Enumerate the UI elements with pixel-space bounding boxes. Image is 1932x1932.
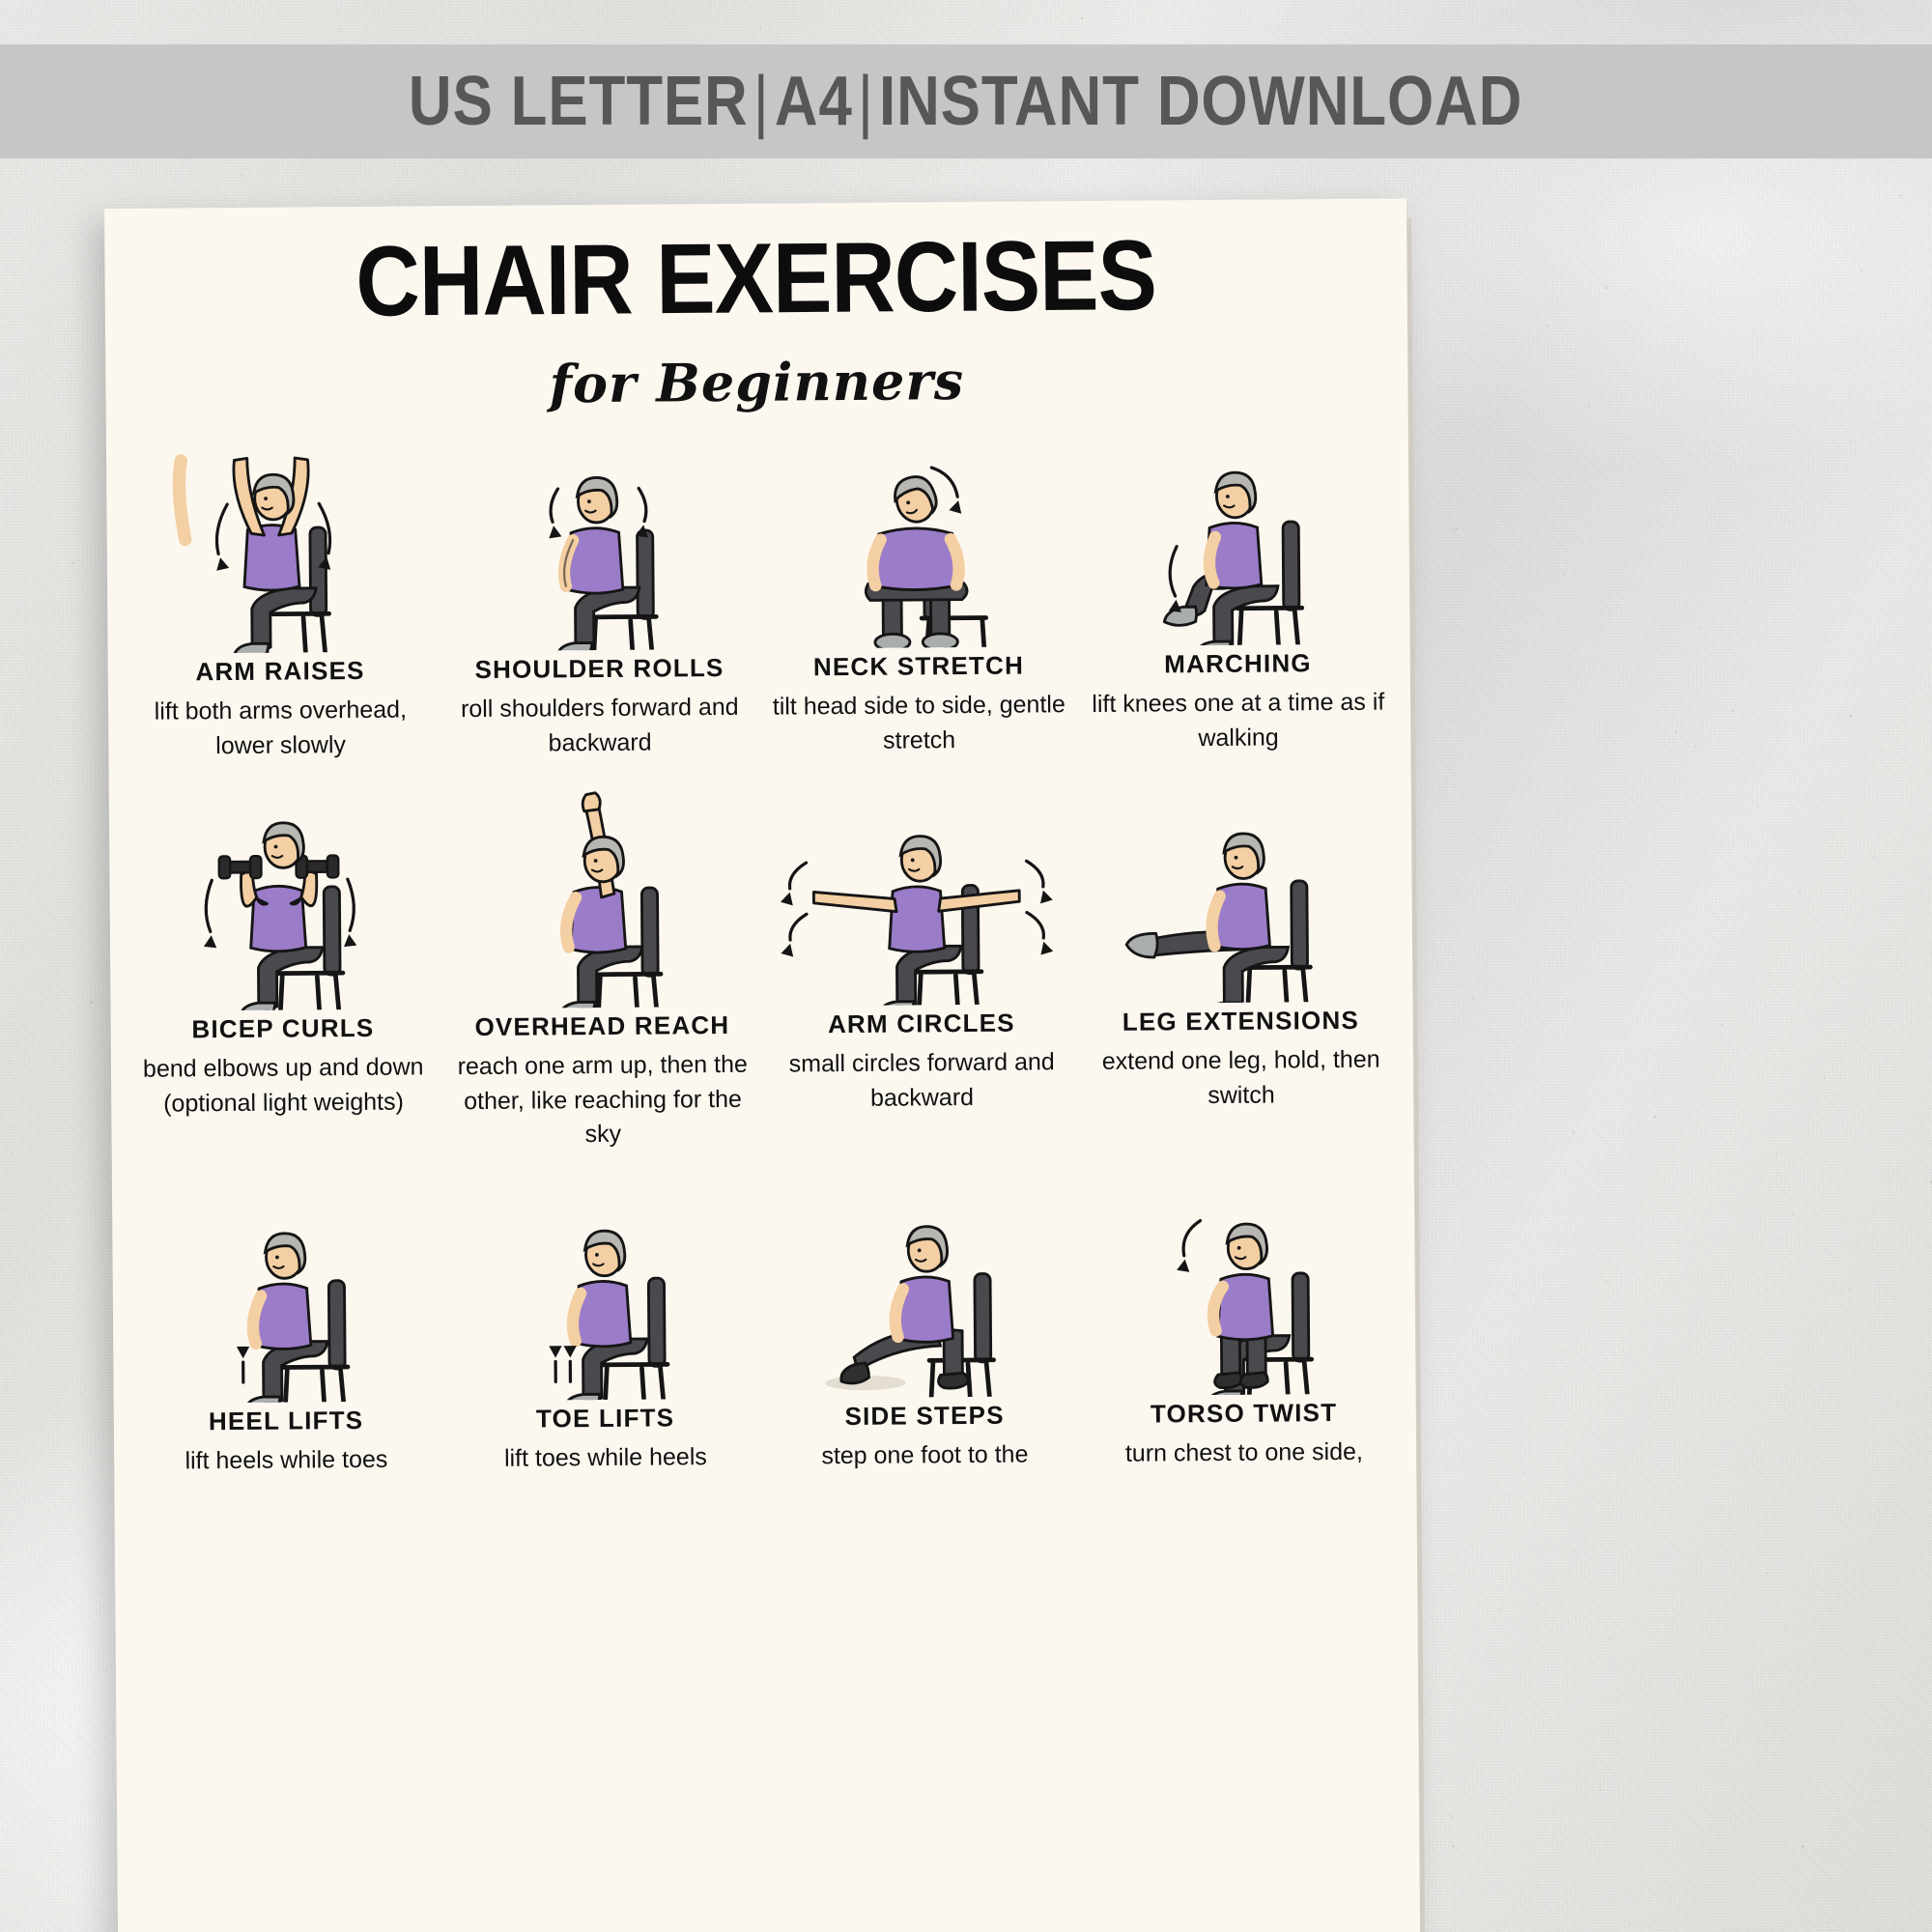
arrow-head xyxy=(1037,940,1053,955)
exercise-grid: ARM RAISESlift both arms overhead, lower… xyxy=(106,423,1417,1506)
background-speck xyxy=(1461,300,1463,303)
background-speck xyxy=(1629,1923,1631,1925)
background-speck xyxy=(1815,309,1816,310)
background-speck xyxy=(1828,1921,1830,1923)
poster-title: CHAIR EXERCISES xyxy=(104,217,1407,341)
background-speck xyxy=(1538,412,1539,412)
exercise-figure-arms-up xyxy=(120,431,439,654)
background-speck xyxy=(11,1152,13,1154)
head xyxy=(891,472,941,526)
background-speck xyxy=(1540,664,1541,665)
background-speck xyxy=(48,1156,49,1157)
background-speck xyxy=(1693,1900,1694,1901)
background-speck xyxy=(1081,17,1083,19)
background-speck xyxy=(1701,720,1703,722)
exercise-name: HEEL LIFTS xyxy=(209,1405,364,1435)
background-speck xyxy=(1792,1213,1794,1215)
background-speck xyxy=(1427,1760,1430,1763)
background-speck xyxy=(241,174,243,176)
exercise-name: SIDE STEPS xyxy=(844,1400,1004,1431)
exercise-figure-curls-with-dumbbells xyxy=(123,788,441,1011)
exercise-description: roll shoulders forward and backward xyxy=(450,691,751,761)
background-speck xyxy=(1745,601,1747,603)
background-speck xyxy=(1869,1649,1871,1651)
background-speck xyxy=(1758,1417,1759,1418)
background-speck xyxy=(1442,13,1444,14)
background-speck xyxy=(1604,210,1605,211)
arrow-head xyxy=(214,556,230,571)
background-speck xyxy=(1105,1,1107,3)
head xyxy=(1224,834,1264,879)
background-speck xyxy=(1473,1,1475,3)
arrow-head xyxy=(547,525,561,538)
background-speck xyxy=(1839,970,1840,971)
background-speck xyxy=(1431,1689,1433,1690)
arrow-head xyxy=(237,1346,249,1357)
background-speck xyxy=(1861,1494,1861,1495)
background-speck xyxy=(1732,710,1734,712)
background-speck xyxy=(1849,1288,1851,1290)
background-speck xyxy=(1513,1293,1514,1294)
exercise-name: LEG EXTENSIONS xyxy=(1122,1006,1359,1037)
motion-arrow xyxy=(348,879,355,930)
background-speck xyxy=(1593,854,1595,856)
background-speck xyxy=(1851,422,1852,423)
exercise-card: ARM RAISESlift both arms overhead, lower… xyxy=(120,431,440,791)
background-speck xyxy=(1145,3,1146,4)
background-speck xyxy=(1694,746,1696,748)
background-speck xyxy=(1868,292,1869,293)
poster-subtitle: for Beginners xyxy=(105,346,1407,418)
background-speck xyxy=(185,176,186,178)
exercise-illustration xyxy=(1092,424,1383,646)
background-speck xyxy=(57,1294,58,1295)
background-speck xyxy=(1576,582,1577,583)
background-speck xyxy=(1675,730,1676,731)
banner-format-us-letter: US LETTER xyxy=(409,63,749,140)
background-speck xyxy=(1533,982,1534,983)
background-speck xyxy=(1202,166,1204,168)
background-speck xyxy=(1591,658,1594,661)
exercise-card: TOE LIFTSlift toes while heels xyxy=(444,1178,764,1503)
exercise-name: TOE LIFTS xyxy=(536,1403,674,1434)
background-speck xyxy=(1468,439,1470,440)
background-speck xyxy=(1240,188,1242,190)
background-speck xyxy=(1884,312,1886,314)
motion-arrow xyxy=(1027,912,1043,938)
background-speck xyxy=(1700,1326,1702,1328)
arrow-head xyxy=(204,935,217,949)
background-speck xyxy=(1925,1492,1926,1493)
background-speck xyxy=(1674,607,1675,608)
background-speck xyxy=(1807,1587,1810,1590)
background-speck xyxy=(1500,1608,1501,1609)
background-speck xyxy=(1532,1709,1534,1711)
background-speck xyxy=(1849,715,1851,717)
arrow-head xyxy=(563,1346,576,1357)
head xyxy=(1215,472,1256,518)
background-speck xyxy=(71,562,73,564)
head xyxy=(907,1226,948,1271)
background-speck xyxy=(1862,1578,1864,1580)
background-speck xyxy=(1668,1003,1669,1004)
head xyxy=(584,1231,625,1276)
head xyxy=(254,474,295,520)
arrow-head xyxy=(950,498,965,513)
background-speck xyxy=(1511,1362,1512,1363)
background-speck xyxy=(1701,1276,1703,1278)
background-speck xyxy=(1655,1758,1657,1760)
exercise-card: HEEL LIFTSlift heels while toes xyxy=(126,1180,445,1506)
background-speck xyxy=(115,15,116,16)
motion-arrow xyxy=(639,488,646,521)
listing-banner: US LETTER|A4|INSTANT DOWNLOAD xyxy=(0,44,1932,158)
background-speck xyxy=(1638,540,1639,541)
background-speck xyxy=(352,6,355,9)
exercise-figure-shoulder-roll xyxy=(439,429,757,652)
exercise-figure-one-arm-up xyxy=(441,786,760,1009)
background-speck xyxy=(1588,404,1591,407)
background-speck xyxy=(1725,1715,1727,1717)
head xyxy=(577,477,617,523)
arrow-head xyxy=(781,891,796,905)
background-speck xyxy=(1654,1116,1656,1118)
background-speck xyxy=(1835,760,1836,761)
background-speck xyxy=(1435,841,1437,843)
background-speck xyxy=(1872,857,1874,859)
exercise-name: ARM RAISES xyxy=(195,656,364,687)
exercise-card: BICEP CURLSbend elbows up and down (opti… xyxy=(123,788,443,1182)
background-speck xyxy=(1802,1845,1804,1848)
exercise-name: NECK STRETCH xyxy=(813,651,1024,683)
banner-text: US LETTER|A4|INSTANT DOWNLOAD xyxy=(409,62,1522,141)
exercise-figure-leg-extended xyxy=(1080,781,1399,1005)
exercise-description: extend one leg, hold, then switch xyxy=(1092,1043,1392,1114)
background-speck xyxy=(1878,1371,1879,1372)
background-speck xyxy=(810,10,812,13)
exercise-card: ARM CIRCLESsmall circles forward and bac… xyxy=(761,783,1082,1178)
exercise-illustration xyxy=(139,1180,431,1403)
exercise-illustration xyxy=(455,786,747,1009)
head xyxy=(1227,1223,1267,1268)
background-speck xyxy=(64,1824,66,1826)
motion-arrow xyxy=(206,880,213,931)
head xyxy=(900,836,941,881)
background-speck xyxy=(1483,1341,1485,1343)
background-speck xyxy=(1781,251,1782,252)
background-speck xyxy=(1800,734,1802,736)
background-speck xyxy=(1771,1863,1772,1864)
background-speck xyxy=(1623,29,1624,30)
exercise-illustration xyxy=(775,783,1066,1006)
background-speck xyxy=(1777,916,1778,917)
exercise-description: reach one arm up, then the other, like r… xyxy=(453,1048,753,1153)
exercise-figure-knee-lift xyxy=(1077,424,1396,647)
exercise-figure-torso-twist xyxy=(1083,1173,1402,1396)
background-speck xyxy=(1606,1280,1607,1281)
background-speck xyxy=(1723,1614,1724,1615)
torso xyxy=(889,887,945,952)
head xyxy=(583,837,624,882)
background-speck xyxy=(1561,650,1563,652)
background-speck xyxy=(1430,715,1433,718)
exercise-description: tilt head side to side, gentle stretch xyxy=(769,688,1069,758)
background-speck xyxy=(982,6,983,7)
background-speck xyxy=(1924,1217,1925,1218)
background-speck xyxy=(1605,286,1607,289)
background-speck xyxy=(1573,1131,1575,1133)
background-speck xyxy=(1798,892,1801,895)
background-speck xyxy=(1455,527,1458,530)
background-speck xyxy=(1575,1616,1577,1618)
background-speck xyxy=(1886,1638,1888,1640)
exercise-illustration xyxy=(778,1176,1069,1398)
motion-arrow xyxy=(551,489,558,522)
exercise-card: NECK STRETCHtilt head side to side, gent… xyxy=(758,426,1078,786)
background-speck xyxy=(1423,655,1424,656)
head xyxy=(266,1233,306,1278)
background-speck xyxy=(28,1712,30,1714)
background-speck xyxy=(1757,1694,1759,1696)
background-speck xyxy=(1522,1631,1523,1632)
background-speck xyxy=(1651,1416,1652,1417)
background-speck xyxy=(1609,1638,1611,1640)
exercise-figure-arms-out-sideways xyxy=(761,783,1080,1007)
background-speck xyxy=(1804,441,1805,442)
background-speck xyxy=(1641,650,1642,651)
head xyxy=(264,823,304,868)
legs-twist xyxy=(1214,1333,1267,1387)
background-speck xyxy=(1500,255,1502,257)
background-speck xyxy=(1921,1826,1923,1828)
background-speck xyxy=(1522,1472,1524,1474)
background-speck xyxy=(78,1736,80,1738)
exercise-description: lift toes while heels xyxy=(504,1440,707,1476)
background-speck xyxy=(1800,1552,1801,1553)
exercise-name: SHOULDER ROLLS xyxy=(474,653,724,685)
background-speck xyxy=(1547,325,1548,327)
background-speck xyxy=(667,184,668,185)
exercise-description: lift heels while toes xyxy=(185,1442,387,1478)
arrow-head xyxy=(1037,889,1053,904)
background-speck xyxy=(1563,574,1565,576)
background-speck xyxy=(69,1726,71,1728)
exercise-card: MARCHINGlift knees one at a time as if w… xyxy=(1077,424,1397,784)
background-speck xyxy=(759,26,761,28)
background-speck xyxy=(228,171,229,172)
chair-exercises-poster: CHAIR EXERCISES for Beginners xyxy=(104,198,1421,1932)
background-speck xyxy=(1523,409,1524,410)
arrow-head xyxy=(549,1346,561,1357)
background-speck xyxy=(83,1709,84,1710)
arrow-head xyxy=(343,933,357,947)
background-speck xyxy=(1651,1925,1653,1927)
exercise-illustration xyxy=(1097,1173,1389,1395)
motion-arrow xyxy=(790,914,807,940)
background-speck xyxy=(1766,1573,1768,1575)
exercise-name: MARCHING xyxy=(1164,648,1312,679)
exercise-illustration xyxy=(136,788,428,1010)
background-speck xyxy=(1850,440,1852,442)
background-speck xyxy=(1899,195,1902,198)
background-speck xyxy=(1567,765,1569,767)
background-speck xyxy=(1695,1689,1697,1690)
background-speck xyxy=(440,160,440,161)
background-speck xyxy=(1127,177,1128,178)
background-speck xyxy=(339,30,341,32)
background-speck xyxy=(1872,302,1873,303)
exercise-card: OVERHEAD REACHreach one arm up, then the… xyxy=(441,786,762,1180)
background-speck xyxy=(1861,270,1863,272)
exercise-figure-seated-neutral xyxy=(126,1180,444,1404)
exercise-name: TORSO TWIST xyxy=(1151,1398,1338,1430)
exercise-name: ARM CIRCLES xyxy=(828,1009,1015,1040)
exercise-description: lift both arms overhead, lower slowly xyxy=(130,693,431,763)
motion-arrow xyxy=(1027,861,1043,887)
background-speck xyxy=(1776,1153,1777,1155)
banner-separator-1: | xyxy=(749,63,775,140)
exercise-card: SHOULDER ROLLSroll shoulders forward and… xyxy=(439,429,758,789)
motion-arrow xyxy=(1183,1220,1201,1255)
exercise-description: small circles forward and backward xyxy=(772,1045,1072,1116)
background-speck xyxy=(1739,1915,1741,1917)
motion-arrow xyxy=(790,863,807,889)
exercise-description: lift knees one at a time as if walking xyxy=(1089,686,1389,756)
exercise-figure-seated-neutral-toes xyxy=(444,1178,763,1401)
background-speck xyxy=(1536,1602,1538,1604)
banner-format-a4: A4 xyxy=(775,63,853,140)
background-speck xyxy=(55,716,58,719)
background-speck xyxy=(1820,1238,1823,1241)
exercise-card: LEG EXTENSIONSextend one leg, hold, then… xyxy=(1080,781,1401,1176)
background-speck xyxy=(1472,997,1474,999)
background-speck xyxy=(1721,1024,1722,1025)
background-speck xyxy=(1493,1813,1495,1815)
background-speck xyxy=(531,175,532,176)
background-speck xyxy=(1595,861,1596,862)
background-speck xyxy=(1496,1079,1497,1080)
background-speck xyxy=(1450,1815,1452,1817)
exercise-card: SIDE STEPSstep one foot to the xyxy=(764,1176,1084,1501)
background-speck xyxy=(1739,1618,1740,1619)
exercise-description: bend elbows up and down (optional light … xyxy=(133,1050,434,1121)
background-speck xyxy=(1452,1845,1454,1847)
torso xyxy=(250,886,306,952)
exercise-card: TORSO TWISTturn chest to one side, xyxy=(1083,1173,1403,1498)
background-speck xyxy=(111,1732,113,1734)
motion-arrow xyxy=(216,504,227,554)
background-speck xyxy=(4,1789,6,1791)
exercise-illustration xyxy=(772,426,1064,648)
background-speck xyxy=(90,1001,93,1004)
arrow-head xyxy=(1177,1258,1191,1271)
background-speck xyxy=(1669,1297,1670,1298)
exercise-illustration xyxy=(459,1178,751,1400)
banner-separator-2: | xyxy=(853,63,879,140)
background-speck xyxy=(1502,648,1503,649)
exercise-illustration xyxy=(453,429,745,651)
background-speck xyxy=(1824,1076,1826,1078)
exercise-figure-foot-to-side xyxy=(764,1176,1083,1399)
exercise-name: OVERHEAD REACH xyxy=(474,1010,729,1042)
exercise-name: BICEP CURLS xyxy=(191,1013,374,1044)
motion-arrow xyxy=(1170,547,1178,596)
background-speck xyxy=(1600,1789,1602,1791)
exercise-description: turn chest to one side, xyxy=(1125,1435,1363,1470)
arrow-head xyxy=(781,942,797,956)
exercise-figure-head-tilt xyxy=(758,426,1077,649)
arrow-head xyxy=(1169,599,1182,612)
background-speck xyxy=(1699,626,1701,628)
exercise-illustration xyxy=(1094,781,1385,1004)
exercise-illustration xyxy=(133,431,425,653)
background-speck xyxy=(533,24,534,25)
background-speck xyxy=(1911,545,1914,548)
background-speck xyxy=(1574,1549,1577,1552)
background-speck xyxy=(102,538,103,539)
banner-instant-download: INSTANT DOWNLOAD xyxy=(880,63,1523,140)
background-speck xyxy=(105,1670,107,1672)
background-speck xyxy=(1820,960,1821,961)
background-speck xyxy=(1801,1681,1804,1684)
background-speck xyxy=(1757,806,1758,807)
exercise-description: step one foot to the xyxy=(821,1437,1028,1473)
background-speck xyxy=(1878,1176,1879,1177)
